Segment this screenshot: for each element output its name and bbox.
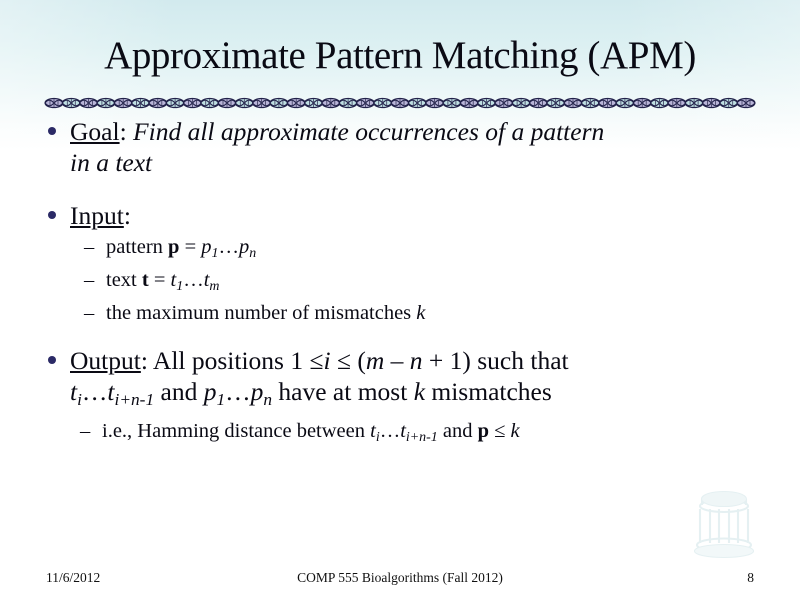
en-dash-bullet-icon: – — [84, 267, 94, 293]
hamming-t-sub-2: i+n-1 — [406, 430, 438, 445]
output-label: Output — [70, 346, 141, 375]
goal-colon: : — [120, 117, 133, 146]
pattern-prefix: pattern — [106, 236, 168, 258]
slide-body: Goal: Find all approximate occurrences o… — [40, 116, 770, 453]
pattern-expr-a: p — [201, 236, 211, 258]
output-sub-list: – i.e., Hamming distance between ti…ti+n… — [40, 418, 770, 451]
bullet-input: Input: — [40, 200, 770, 231]
output-plus-one: + 1 — [422, 346, 462, 375]
round-bullet-icon — [48, 356, 56, 364]
hamming-var-k: k — [511, 420, 520, 442]
list-item: – text t = t1…tm — [40, 267, 770, 300]
output-paren-close: ) — [462, 346, 471, 375]
output-paren-open: ( — [357, 346, 366, 375]
hamming-le: ≤ — [489, 420, 511, 442]
en-dash-bullet-icon: – — [84, 234, 94, 260]
input-label: Input — [70, 201, 124, 230]
list-item: – the maximum number of mismatches k — [40, 300, 770, 326]
output-le-2: ≤ — [337, 346, 351, 375]
pattern-equals: = — [179, 236, 201, 258]
en-dash-bullet-icon: – — [84, 300, 94, 326]
spacer-after-goal — [40, 180, 770, 200]
output-tail-a: have at most — [272, 377, 414, 406]
input-sub-list: – pattern p = p1…pn – text t = t1…tm – t… — [40, 234, 770, 326]
unc-old-well-watermark-icon — [686, 487, 762, 561]
hamming-and: and — [438, 420, 478, 442]
pattern-var: p — [168, 236, 179, 258]
output-and: and — [154, 377, 204, 406]
text-var: t — [142, 269, 149, 291]
footer-course: COMP 555 Bioalgorithms (Fall 2012) — [0, 566, 800, 590]
spacer-after-input — [40, 328, 770, 345]
output-p-base-1: p — [204, 377, 217, 406]
output-var-n: n — [410, 346, 423, 375]
slide-title: Approximate Pattern Matching (APM) — [0, 33, 800, 79]
output-line1-t1: All positions 1 — [153, 346, 310, 375]
output-line1-t2: such that — [471, 346, 569, 375]
output-ellipsis-1: … — [82, 377, 108, 406]
pattern-ellipsis: … — [218, 236, 239, 258]
output-ellipsis-2: … — [225, 377, 251, 406]
slide-footer: 11/6/2012 COMP 555 Bioalgorithms (Fall 2… — [0, 566, 800, 590]
output-p-base-2: p — [251, 377, 264, 406]
text-ellipsis: … — [183, 269, 204, 291]
list-item: – pattern p = p1…pn — [40, 234, 770, 267]
hamming-p-var: p — [478, 420, 489, 442]
mismatch-text: the maximum number of mismatches — [106, 302, 416, 324]
output-var-m: m — [366, 346, 384, 375]
hamming-text: i.e., Hamming distance between — [102, 420, 370, 442]
text-expr-b-sub: m — [209, 279, 219, 294]
text-prefix: text — [106, 269, 142, 291]
output-p-sub-1: 1 — [216, 390, 225, 409]
mismatch-var-k: k — [416, 302, 425, 324]
pattern-expr-b-sub: n — [249, 246, 256, 261]
bullet-goal: Goal: Find all approximate occurrences o… — [40, 116, 770, 178]
output-minus: – — [384, 346, 410, 375]
round-bullet-icon — [48, 127, 56, 135]
footer-page-number: 8 — [747, 566, 754, 590]
slide: Approximate Pattern Matching (APM) — [0, 0, 800, 599]
goal-text-line1: Find all approximate occurrences of a pa… — [133, 117, 604, 146]
output-t-base-2: t — [107, 377, 114, 406]
pattern-expr-b: p — [239, 236, 249, 258]
output-tail-b: mismatches — [425, 377, 552, 406]
en-dash-bullet-icon: – — [80, 418, 90, 444]
output-t-sub-2: i+n-1 — [115, 390, 155, 409]
list-item: – i.e., Hamming distance between ti…ti+n… — [40, 418, 770, 451]
goal-label: Goal — [70, 117, 120, 146]
input-colon: : — [124, 201, 131, 230]
output-var-k: k — [414, 377, 425, 406]
bullet-output: Output: All positions 1 ≤i ≤ (m – n + 1)… — [40, 345, 770, 415]
text-equals: = — [149, 269, 171, 291]
dna-helix-divider-icon — [44, 95, 756, 111]
goal-text-line2: in a text — [70, 148, 152, 177]
round-bullet-icon — [48, 211, 56, 219]
output-le-1: ≤ — [309, 346, 323, 375]
output-colon: : — [141, 346, 153, 375]
hamming-ellipsis: … — [380, 420, 401, 442]
output-var-i: i — [323, 346, 330, 375]
output-p-sub-2: n — [263, 390, 272, 409]
